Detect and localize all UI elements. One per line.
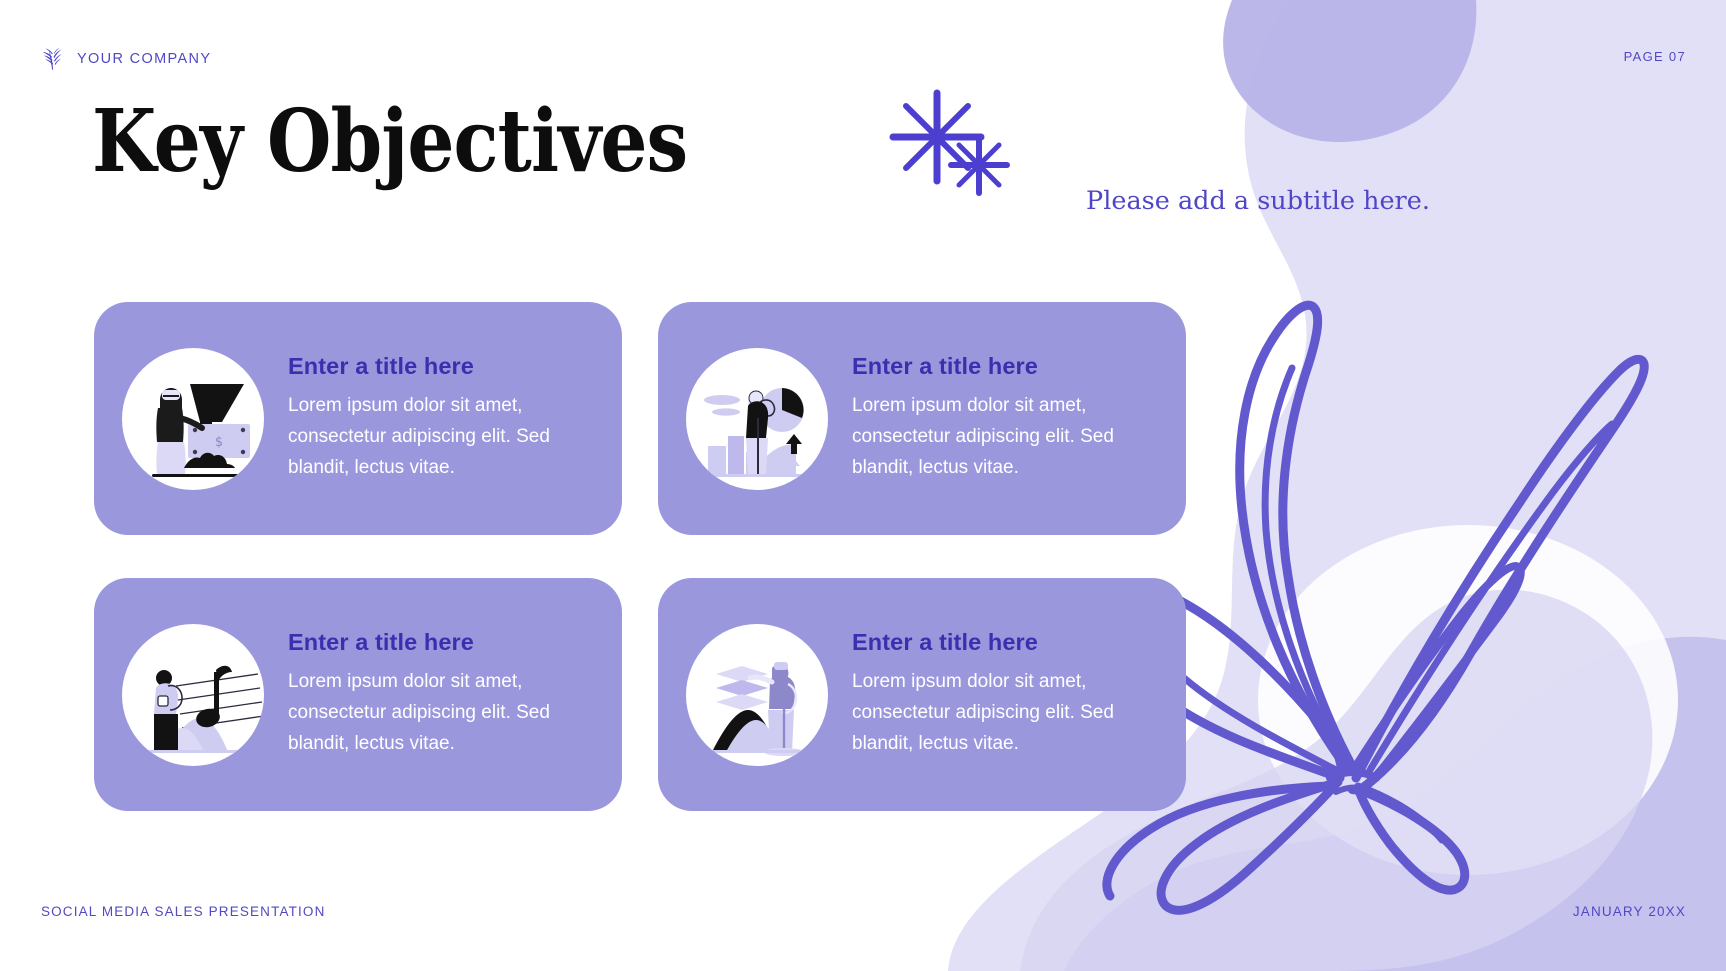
card-illustration-frame [686, 348, 828, 490]
slide-canvas: YOUR COMPANY PAGE 07 Key Objectives Plea… [0, 0, 1726, 971]
layers-mountain-illustration [686, 624, 828, 766]
objective-card[interactable]: Enter a title here Lorem ipsum dolor sit… [658, 302, 1186, 535]
card-illustration-frame: $ [122, 348, 264, 490]
card-description: Lorem ipsum dolor sit amet, consectetur … [852, 667, 1152, 759]
footer-left-text: SOCIAL MEDIA SALES PRESENTATION [41, 904, 325, 919]
footer-right-text: JANUARY 20XX [1573, 904, 1686, 919]
card-title: Enter a title here [852, 353, 1166, 380]
plant-line-art [1107, 305, 1644, 910]
card-description: Lorem ipsum dolor sit amet, consectetur … [852, 391, 1152, 483]
card-illustration-frame [122, 624, 264, 766]
card-text-block: Enter a title here Lorem ipsum dolor sit… [288, 629, 622, 759]
page-title: Key Objectives [92, 101, 687, 183]
music-note-illustration [122, 624, 264, 766]
card-description: Lorem ipsum dolor sit amet, consectetur … [288, 667, 588, 759]
card-title: Enter a title here [288, 353, 602, 380]
brand-lockup: YOUR COMPANY [41, 46, 211, 71]
card-text-block: Enter a title here Lorem ipsum dolor sit… [288, 353, 622, 483]
fern-leaf-logo-icon [41, 46, 66, 71]
funnel-money-illustration: $ [122, 348, 264, 490]
card-description: Lorem ipsum dolor sit amet, consectetur … [288, 391, 588, 483]
objective-card[interactable]: Enter a title here Lorem ipsum dolor sit… [658, 578, 1186, 811]
sparkle-star-icon [887, 89, 1017, 199]
blob-white-circle [1258, 525, 1678, 875]
objectives-card-grid: $ Enter a title here Lorem ipsum dolor s… [94, 302, 1186, 811]
card-text-block: Enter a title here Lorem ipsum dolor sit… [852, 353, 1186, 483]
slide-subtitle: Please add a subtitle here. [1086, 186, 1430, 216]
card-text-block: Enter a title here Lorem ipsum dolor sit… [852, 629, 1186, 759]
page-number: PAGE 07 [1624, 49, 1686, 64]
card-illustration-frame [686, 624, 828, 766]
page-title-group: Key Objectives [92, 101, 784, 183]
card-title: Enter a title here [288, 629, 602, 656]
company-name: YOUR COMPANY [77, 51, 211, 67]
pie-chart-growth-illustration [686, 348, 828, 490]
objective-card[interactable]: $ Enter a title here Lorem ipsum dolor s… [94, 302, 622, 535]
objective-card[interactable]: Enter a title here Lorem ipsum dolor sit… [94, 578, 622, 811]
card-title: Enter a title here [852, 629, 1166, 656]
svg-text:$: $ [215, 435, 223, 450]
